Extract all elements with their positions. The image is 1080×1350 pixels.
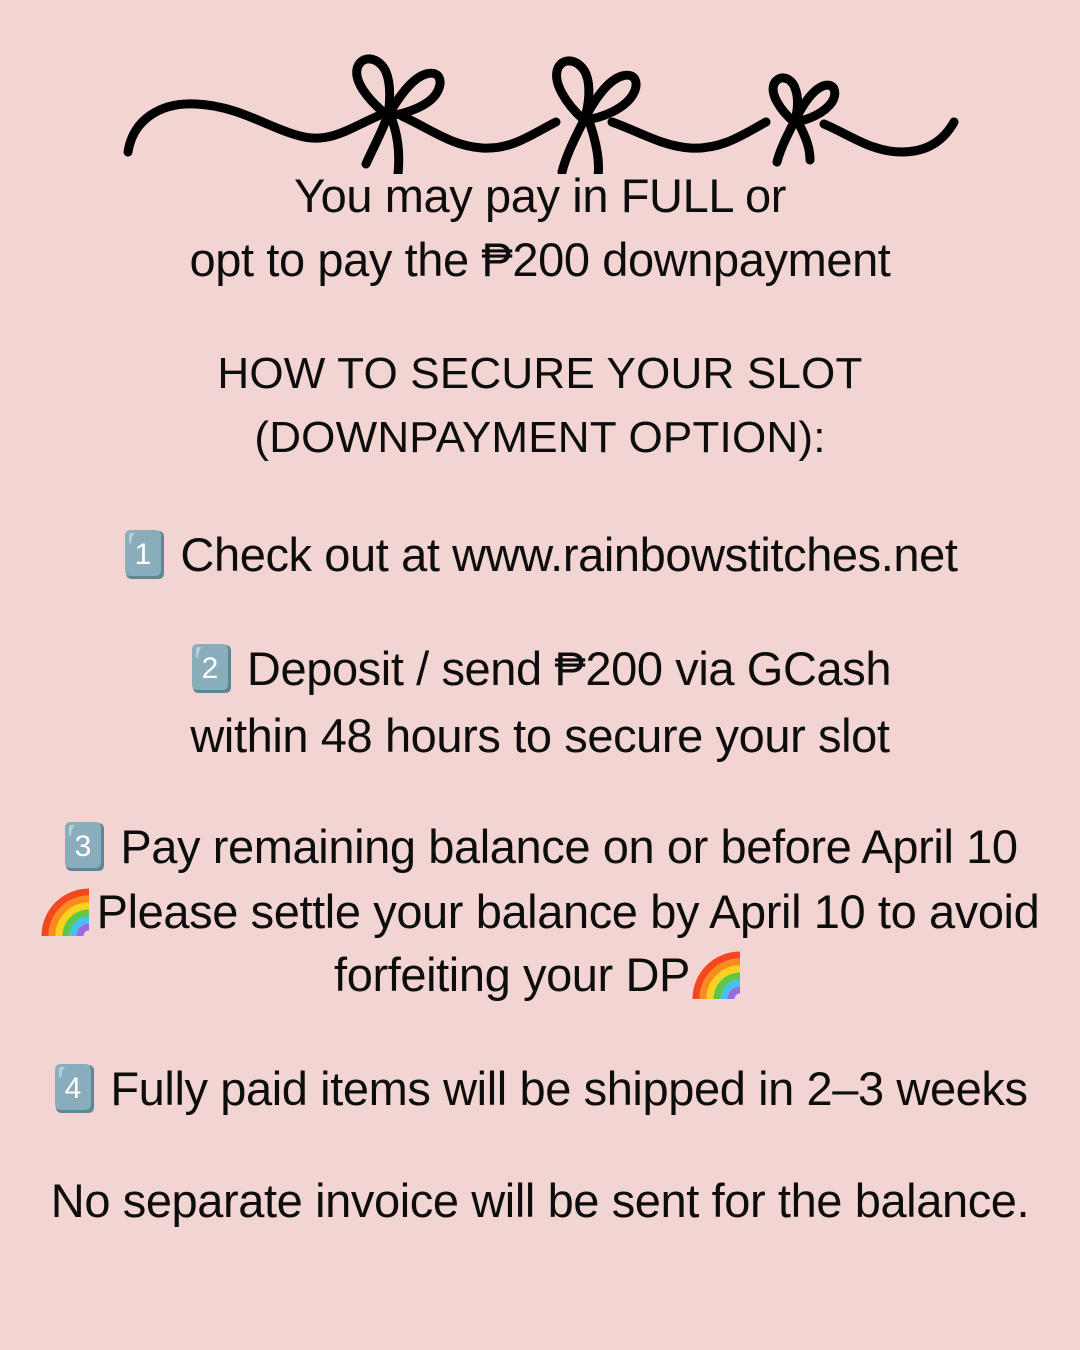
step-4: 4 Fully paid items will be shipped in 2–… [0,1063,1080,1115]
step-4-text: Fully paid items will be shipped in 2–3 … [110,1065,1027,1113]
section-heading: HOW TO SECURE YOUR SLOT (DOWNPAYMENT OPT… [0,352,1080,461]
step-3-subtext2: forfeiting your DP [334,951,690,999]
bow-ribbon-divider [0,24,1080,174]
step-3-subtext-row: Please settle your balance by April 10 t… [0,888,1080,936]
heading-line-2: (DOWNPAYMENT OPTION): [0,416,1080,461]
keycap-four-numeral: 4 [65,1072,82,1105]
step-1-text: Check out at www.rainbowstitches.net [180,531,957,579]
step-1: 1 Check out at www.rainbowstitches.net [0,529,1080,581]
keycap-one-icon: 1 [122,529,168,581]
rainbow-icon [692,951,746,999]
keycap-two-icon: 2 [189,643,235,695]
keycap-three-numeral: 3 [75,830,92,863]
intro-line-2: opt to pay the ₱200 downpayment [0,236,1080,284]
step-2-text: Deposit / send ₱200 via GCash [247,645,891,693]
step-2-subtext: within 48 hours to secure your slot [0,712,1080,760]
keycap-four-icon: 4 [52,1063,98,1115]
keycap-three-icon: 3 [62,821,108,873]
step-3-subtext2-row: forfeiting your DP [0,951,1080,999]
step-2: 2 Deposit / send ₱200 via GCash [0,643,1080,695]
keycap-two-numeral: 2 [202,652,219,685]
keycap-one-numeral: 1 [135,538,152,571]
poster-text-content: You may pay in FULL or opt to pay the ₱2… [0,172,1080,1225]
step-3: 3 Pay remaining balance on or before Apr… [0,821,1080,873]
intro-line-1: You may pay in FULL or [0,172,1080,220]
step-3-subtext: Please settle your balance by April 10 t… [97,888,1040,936]
footer-note: No separate invoice will be sent for the… [0,1177,1080,1225]
rainbow-icon [41,888,95,936]
heading-line-1: HOW TO SECURE YOUR SLOT [0,352,1080,397]
poster-canvas: You may pay in FULL or opt to pay the ₱2… [0,0,1080,1350]
step-3-text: Pay remaining balance on or before April… [120,823,1017,871]
